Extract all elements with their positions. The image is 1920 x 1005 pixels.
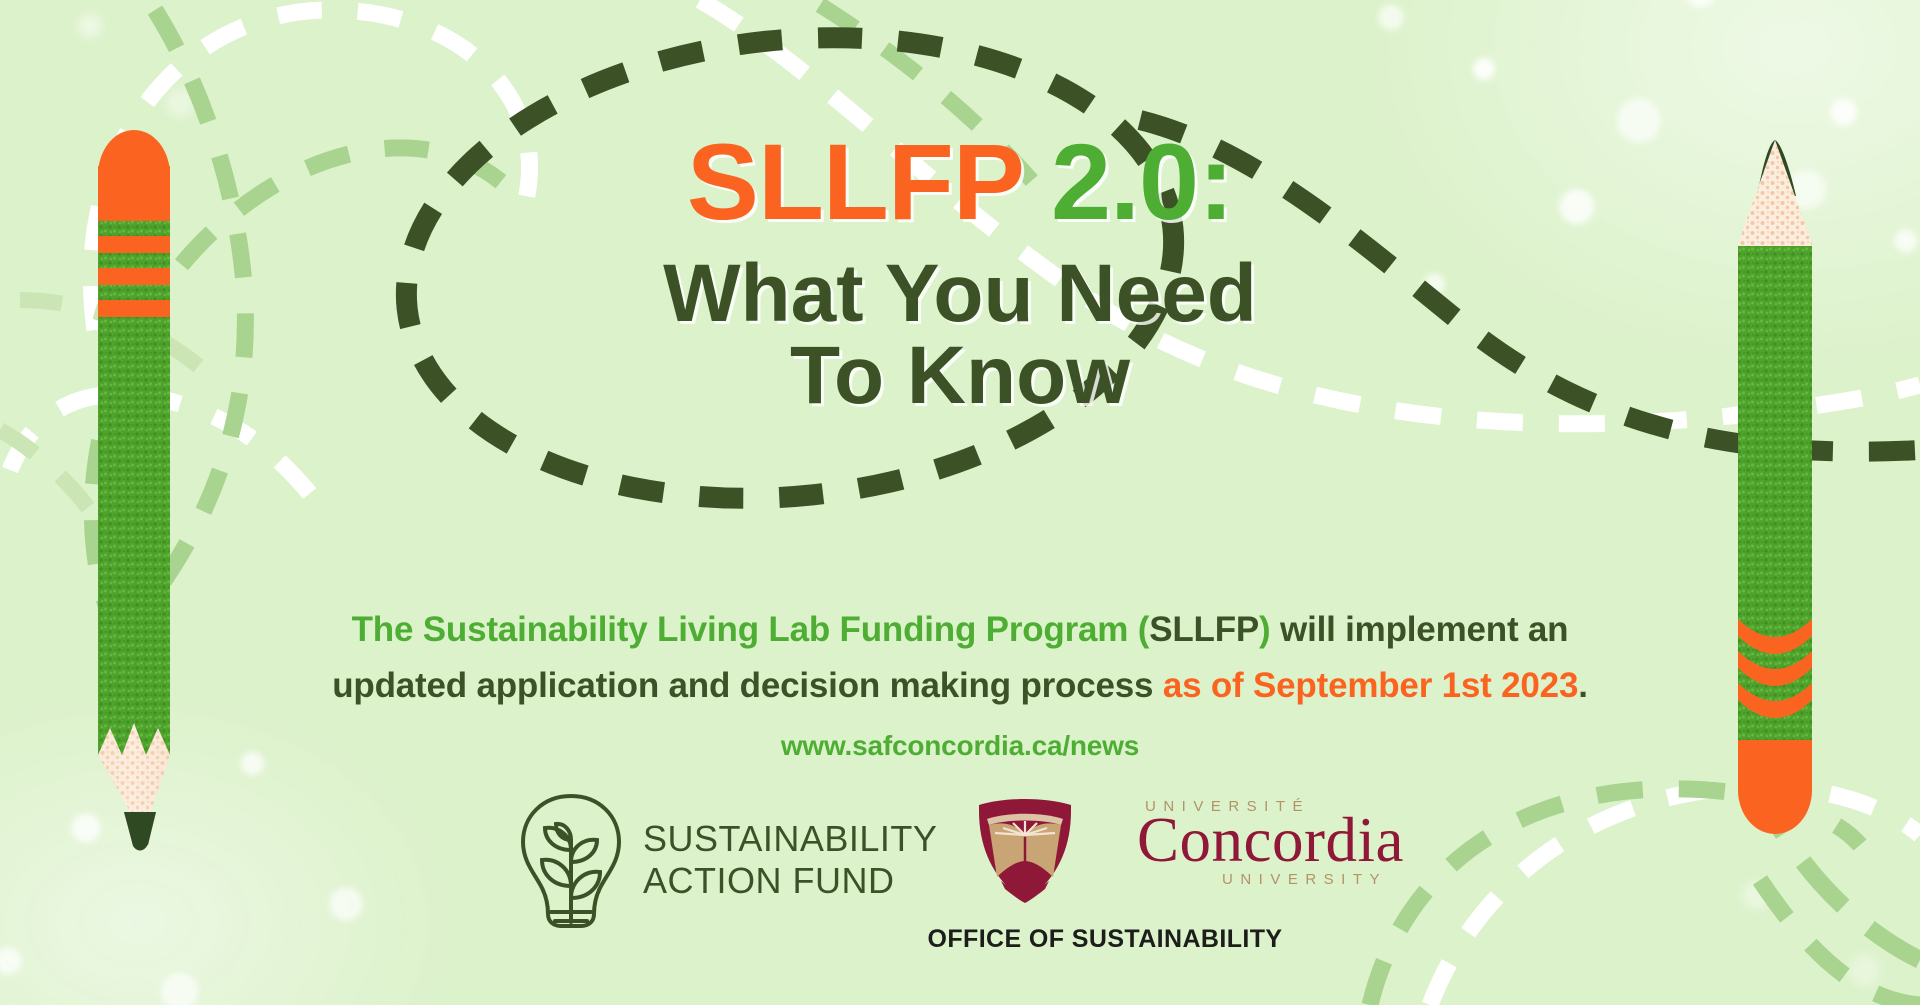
concordia-wordmark: UNIVERSITÉ Concordia UNIVERSITY: [1087, 795, 1387, 887]
paren-open: (: [1138, 610, 1149, 649]
concordia-university-label: UNIVERSITY: [1222, 871, 1387, 888]
headline-orange-part: SLLFP: [687, 121, 1022, 242]
body-dark-lead-2: updated application and decision making …: [332, 666, 1163, 705]
saf-line-2: ACTION FUND: [643, 860, 895, 901]
concordia-name: Concordia: [1137, 809, 1404, 872]
poster-canvas: SLLFP 2.0: What You Need To Know The Sus…: [0, 0, 1920, 1005]
body-text-line-1: The Sustainability Living Lab Funding Pr…: [0, 612, 1920, 647]
speckle-texture-bottom-right: [1620, 795, 1920, 1005]
sustainability-action-fund-logo: SUSTAINABILITYACTION FUND: [515, 790, 937, 930]
saf-logo-text: SUSTAINABILITYACTION FUND: [643, 818, 937, 902]
body-green-lead: The Sustainability Living Lab Funding Pr…: [352, 610, 1138, 649]
body-text-line-2: updated application and decision making …: [0, 668, 1920, 703]
concordia-shield-icon: [975, 795, 1075, 905]
page-title: SLLFP 2.0:: [0, 128, 1920, 236]
concordia-university-logo: UNIVERSITÉ Concordia UNIVERSITY: [975, 795, 1387, 905]
office-of-sustainability-text: OFFICE OF SUSTAINABILITY: [928, 925, 1283, 953]
saf-line-1: SUSTAINABILITY: [643, 818, 937, 859]
body-orange-date: as of September 1st 2023: [1163, 666, 1578, 705]
website-url[interactable]: www.safconcordia.ca/news: [0, 730, 1920, 762]
body-acronym: SLLFP: [1149, 610, 1259, 649]
lightbulb-sprout-icon: [515, 790, 627, 930]
office-of-sustainability-line: OFFICE OF SUSTAINABILITY: [0, 925, 1920, 954]
paren-close: ): [1259, 610, 1270, 649]
body-period: .: [1578, 666, 1588, 705]
headline-line-2: What You Need: [0, 253, 1920, 335]
headline-line-3: To Know: [0, 335, 1920, 417]
body-dark-tail-1: will implement an: [1271, 610, 1569, 649]
headline-green-part: 2.0:: [1022, 121, 1233, 242]
